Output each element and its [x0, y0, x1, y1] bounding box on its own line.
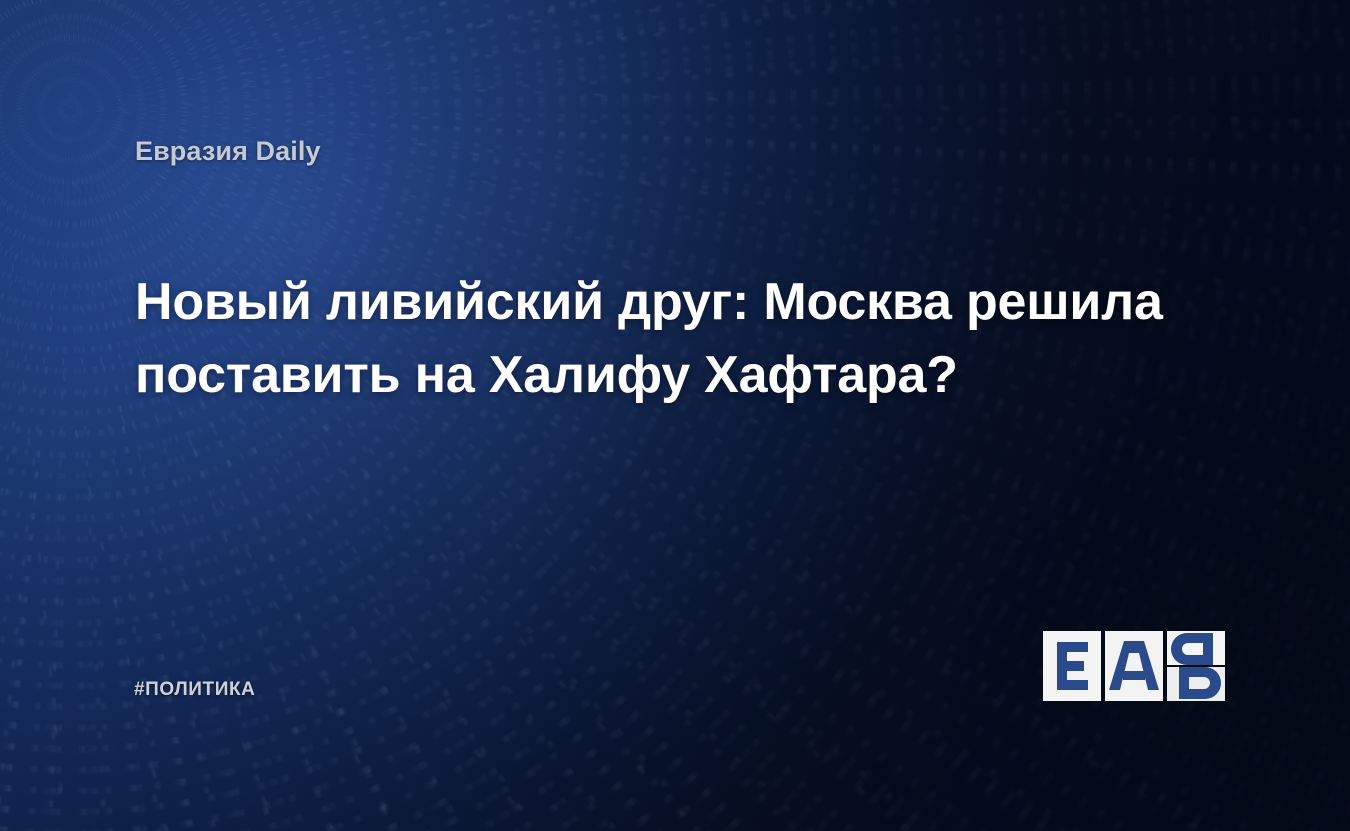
eadaily-logo[interactable]	[1043, 631, 1223, 701]
background-darkening-overlay	[0, 0, 1350, 831]
category-tag[interactable]: #ПОЛИТИКА	[134, 679, 256, 701]
logo-tile-a	[1105, 631, 1163, 701]
page-title: Новый ливийский друг: Москва решила пост…	[135, 266, 1205, 412]
source-name: Евразия Daily	[135, 136, 321, 167]
logo-tile-e	[1043, 631, 1101, 701]
article-card: Евразия Daily Новый ливийский друг: Моск…	[0, 0, 1350, 831]
logo-tile-d-split	[1167, 631, 1225, 701]
logo-tile-d-upper	[1167, 631, 1225, 665]
logo-tile-d-lower	[1167, 667, 1225, 701]
